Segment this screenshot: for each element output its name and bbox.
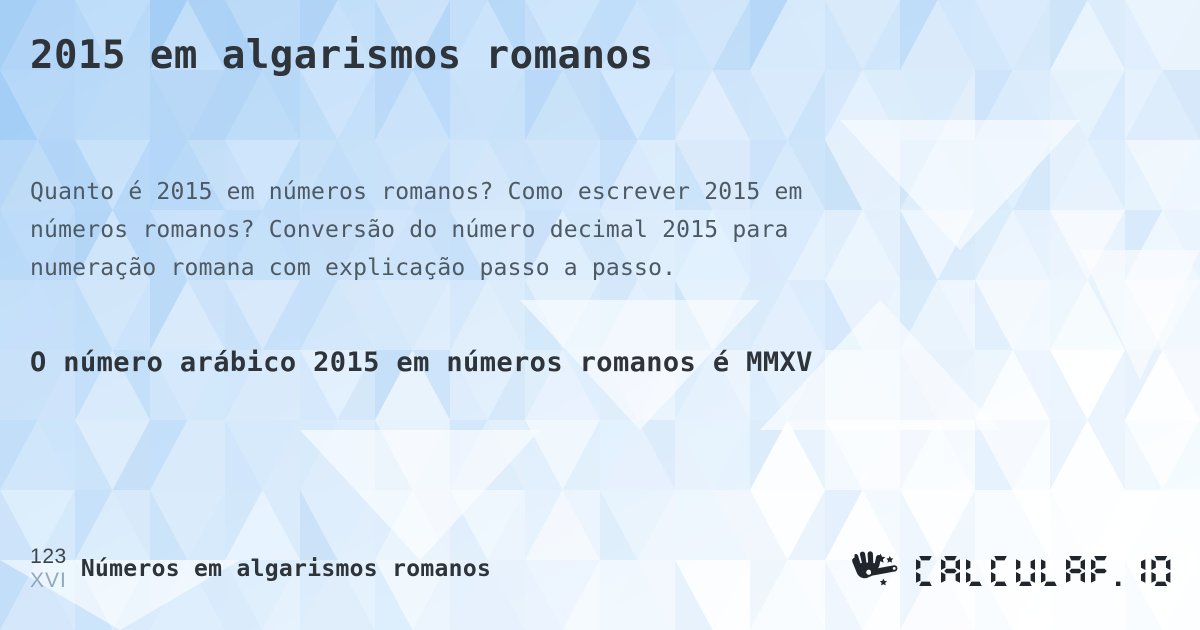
- lead-paragraph: Quanto é 2015 em números romanos? Como e…: [30, 173, 1100, 287]
- calculatio-brand[interactable]: [844, 549, 1178, 591]
- og-image-canvas: 2015 em algarismos romanos Quanto é 2015…: [0, 0, 1200, 630]
- calculatio-wordmark: [914, 549, 1178, 591]
- footer: 123 XVI Números em algarismos romanos: [0, 540, 1200, 610]
- lead-line-3: numeração romana com explicação passo a …: [30, 249, 1100, 287]
- lead-line-2: números romanos? Conversão do número dec…: [30, 211, 1100, 249]
- site-brand[interactable]: 123 XVI Números em algarismos romanos: [30, 546, 491, 591]
- site-name-label: Números em algarismos romanos: [81, 556, 491, 582]
- logo-arabic-text: 123: [30, 546, 67, 568]
- page-title: 2015 em algarismos romanos: [30, 33, 653, 78]
- hand-magic-wand-icon: [844, 550, 910, 590]
- logo-roman-text: XVI: [30, 568, 67, 591]
- lead-line-1: Quanto é 2015 em números romanos? Como e…: [30, 173, 1100, 211]
- answer-statement: O número arábico 2015 em números romanos…: [30, 347, 813, 378]
- roman-numeral-logo-icon: 123 XVI: [30, 546, 67, 591]
